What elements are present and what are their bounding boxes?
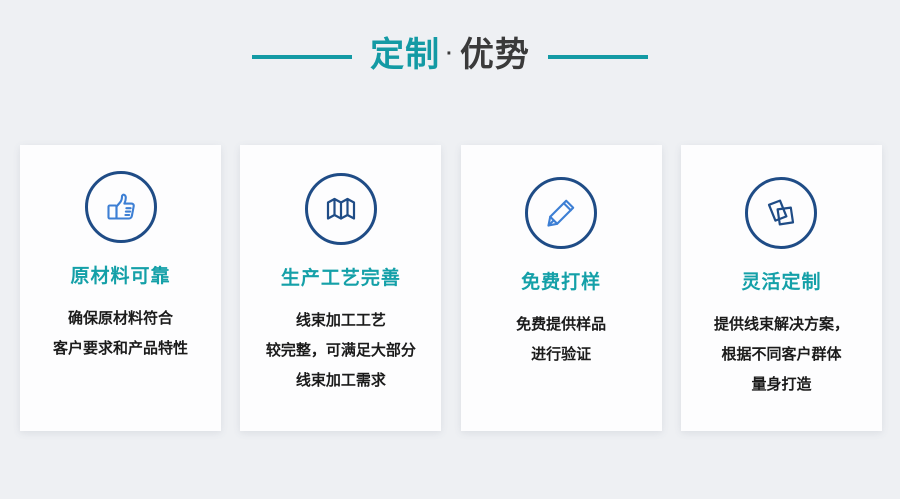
card-title: 生产工艺完善 bbox=[281, 267, 401, 291]
section-title: 定制 · 优势 bbox=[0, 30, 900, 84]
thumbs-up-icon bbox=[101, 187, 141, 227]
feature-card[interactable]: 生产工艺完善 线束加工工艺 较完整，可满足大部分 线束加工需求 bbox=[240, 145, 441, 431]
icon-ring bbox=[305, 173, 377, 245]
feature-card-list: 原材料可靠 确保原材料符合 客户要求和产品特性 生产工艺完善 线束加工工艺 较完… bbox=[20, 145, 882, 431]
card-description: 确保原材料符合 客户要求和产品特性 bbox=[47, 304, 194, 364]
title-secondary: 优势 bbox=[460, 33, 530, 77]
card-description: 提供线束解决方案， 根据不同客户群体 量身打造 bbox=[708, 310, 855, 400]
card-title: 灵活定制 bbox=[741, 271, 821, 295]
icon-ring bbox=[745, 177, 817, 249]
icon-ring bbox=[525, 177, 597, 249]
card-title: 原材料可靠 bbox=[70, 265, 170, 289]
icon-ring bbox=[85, 171, 157, 243]
title-rule-right bbox=[548, 55, 648, 59]
title-rule-left bbox=[252, 55, 352, 59]
feature-card[interactable]: 灵活定制 提供线束解决方案， 根据不同客户群体 量身打造 bbox=[681, 145, 882, 431]
card-description: 线束加工工艺 较完整，可满足大部分 线束加工需求 bbox=[260, 306, 422, 396]
stacked-cards-icon bbox=[761, 193, 801, 233]
title-separator: · bbox=[440, 32, 460, 76]
title-text: 定制 · 优势 bbox=[370, 33, 530, 82]
feature-card[interactable]: 原材料可靠 确保原材料符合 客户要求和产品特性 bbox=[20, 145, 221, 431]
card-title: 免费打样 bbox=[521, 271, 601, 295]
folded-map-icon bbox=[321, 189, 361, 229]
card-description: 免费提供样品 进行验证 bbox=[510, 310, 612, 370]
pencil-icon bbox=[541, 193, 581, 233]
feature-card[interactable]: 免费打样 免费提供样品 进行验证 bbox=[461, 145, 662, 431]
title-primary: 定制 bbox=[370, 33, 440, 77]
